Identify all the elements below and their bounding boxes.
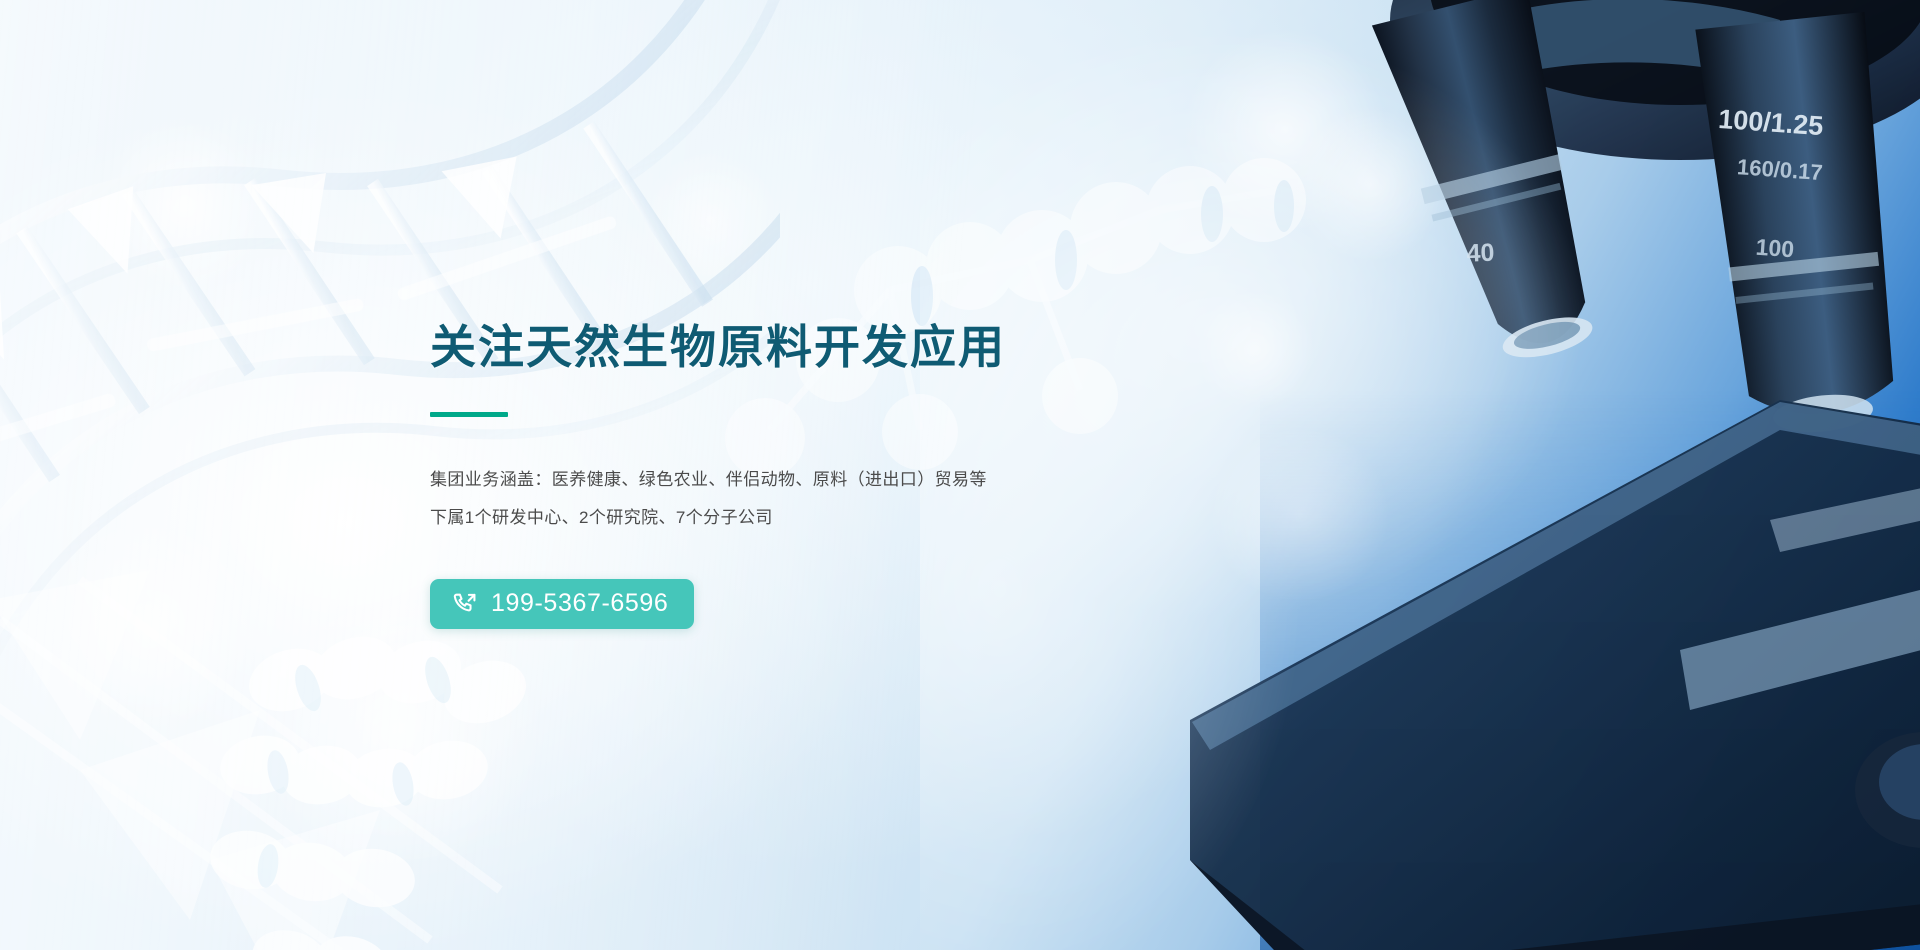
hero-banner: 40 100/1.25 160/0.17 100: [0, 0, 1920, 950]
bokeh-highlight: [100, 120, 270, 290]
bokeh-highlight: [1195, 290, 1315, 410]
svg-text:100: 100: [1755, 234, 1795, 263]
bokeh-highlight: [1180, 30, 1390, 230]
hero-content: 关注天然生物原料开发应用 集团业务涵盖：医养健康、绿色农业、伴侣动物、原料（进出…: [430, 0, 1190, 950]
svg-text:40: 40: [1466, 239, 1495, 268]
phone-outgoing-icon: [452, 591, 478, 617]
microscope-graphic: 40 100/1.25 160/0.17 100: [1080, 0, 1920, 950]
description-line-1: 集团业务涵盖：医养健康、绿色农业、伴侣动物、原料（进出口）贸易等: [430, 461, 1190, 499]
page-title: 关注天然生物原料开发应用: [430, 321, 1190, 374]
bokeh-highlight: [1290, 110, 1450, 260]
svg-text:100/1.25: 100/1.25: [1717, 104, 1824, 141]
bokeh-highlight: [40, 520, 260, 730]
phone-number-label: 199-5367-6596: [491, 591, 668, 616]
accent-underline: [430, 412, 508, 417]
bokeh-highlight: [1210, 430, 1390, 600]
svg-text:160/0.17: 160/0.17: [1736, 154, 1823, 185]
phone-cta-button[interactable]: 199-5367-6596: [430, 579, 694, 629]
description-line-2: 下属1个研发中心、2个研究院、7个分子公司: [430, 499, 1190, 537]
hero-description: 集团业务涵盖：医养健康、绿色农业、伴侣动物、原料（进出口）贸易等 下属1个研发中…: [430, 461, 1190, 537]
